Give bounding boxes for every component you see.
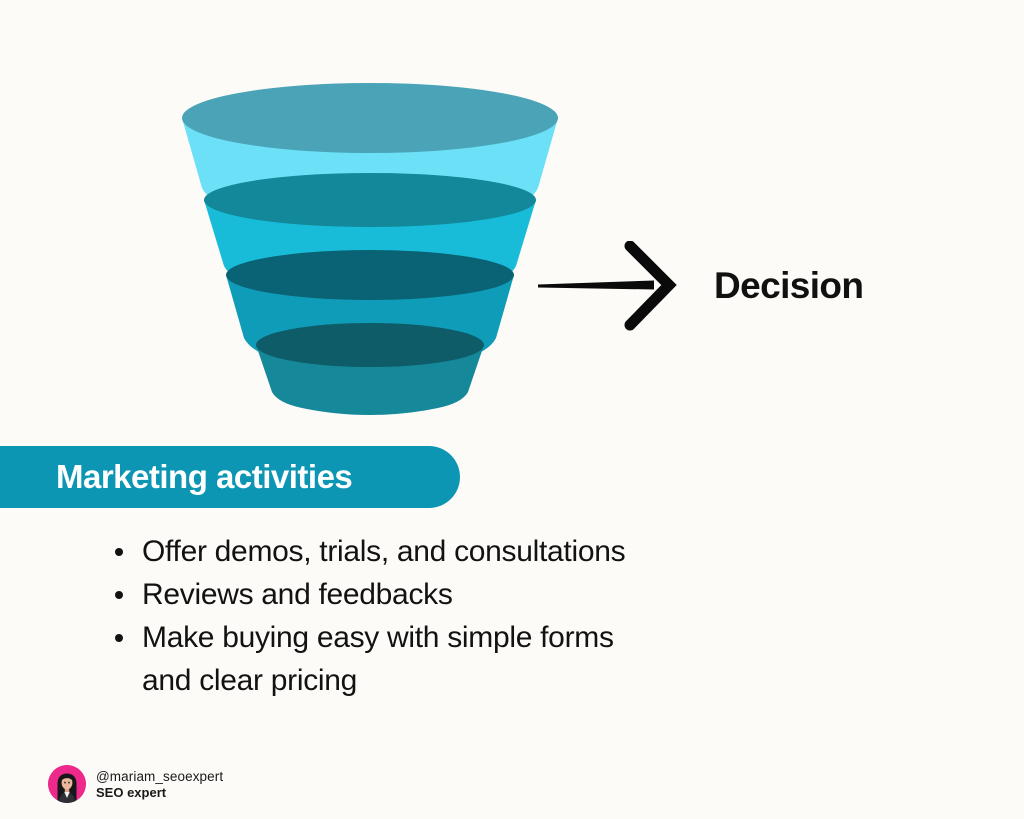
funnel-layer-desire-rim [226,250,514,300]
author-text-group: @mariam_seoexpert SEO expert [96,768,223,801]
arrow-shaft [538,281,654,290]
list-item: Reviews and feedbacks [110,573,670,616]
marketing-funnel-diagram [160,70,580,415]
bullet-icon [115,548,123,556]
list-item: Make buying easy with simple forms and c… [110,616,670,702]
profile-avatar-icon [48,765,86,803]
slide-canvas: Decision Marketing activities Offer demo… [0,0,1024,819]
marketing-activities-banner: Marketing activities [0,446,460,508]
funnel-layer-interest-rim [204,173,536,227]
funnel-layer-action [256,323,484,415]
author-role: SEO expert [96,785,223,801]
author-signature: @mariam_seoexpert SEO expert [48,765,223,803]
author-handle: @mariam_seoexpert [96,768,223,785]
list-item-label: Offer demos, trials, and consultations [142,535,625,568]
list-item: Offer demos, trials, and consultations [110,530,670,573]
marketing-activities-banner-title: Marketing activities [56,458,352,496]
bullet-icon [115,591,123,599]
list-item-label: Reviews and feedbacks [142,578,453,611]
marketing-activities-list: Offer demos, trials, and consultations R… [110,530,670,702]
funnel-layer-awareness-rim [182,83,558,153]
bullet-icon [115,634,123,642]
decision-callout: Decision [536,238,956,334]
list-item-label: Make buying easy with simple forms and c… [142,621,614,697]
funnel-layer-action-rim [256,323,484,367]
decision-label: Decision [714,265,863,307]
avatar [48,765,86,803]
right-arrow-icon [536,241,686,331]
